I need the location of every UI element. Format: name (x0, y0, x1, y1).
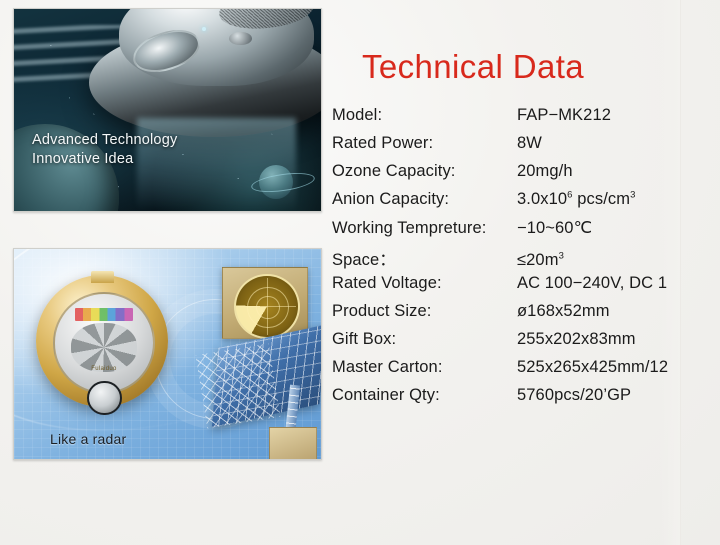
gold-air-purifier-illustration: Fulaiduo (36, 275, 168, 407)
spec-label: Model: (332, 106, 517, 125)
spec-value: −10~60℃ (517, 218, 592, 238)
spec-value: 255x202x83mm (517, 330, 636, 349)
spec-label: Rated Voltage: (332, 274, 517, 293)
spec-label: Product Size: (332, 302, 517, 321)
spec-value: ≤20m3 (517, 251, 564, 270)
bottom-photo-caption: Like a radar (50, 431, 126, 447)
spec-value: 5760pcs/20’GP (517, 386, 631, 405)
gold-device-radar-photo: Fulaiduo Like a radar (13, 248, 322, 460)
spec-value: 3.0x106 pcs/cm3 (517, 190, 635, 209)
spec-label: Rated Power: (332, 134, 517, 153)
gold-device-brand-label: Fulaiduo (55, 366, 153, 372)
media-column: Advanced Technology Innovative Idea Fula… (13, 8, 322, 460)
spec-label: Container Qty: (332, 386, 517, 405)
spec-value: ø168x52mm (517, 302, 610, 321)
spec-value-superscript-tail: 3 (630, 190, 635, 201)
spec-value: 20mg/h (517, 162, 573, 181)
spec-label: Ozone Capacity: (332, 162, 517, 181)
satellite-dish-illustration (199, 315, 322, 460)
spec-label: Master Carton: (332, 358, 517, 377)
gold-device-faceplate: Fulaiduo (53, 292, 155, 394)
space-saucer-purifier-photo: Advanced Technology Innovative Idea (13, 8, 322, 212)
gold-device-power-button (87, 381, 121, 415)
spec-value: AC 100−240V, DC 1 (517, 274, 667, 293)
spec-row: Space：≤20m3 (332, 246, 684, 274)
top-photo-caption: Advanced Technology Innovative Idea (32, 131, 177, 169)
top-photo-caption-line1: Advanced Technology (32, 131, 177, 150)
spec-row: Anion Capacity:3.0x106 pcs/cm3 (332, 190, 684, 218)
technical-data-panel: Technical Data Model:FAP−MK212Rated Powe… (332, 48, 684, 408)
spec-row: Model:FAP−MK212 (332, 106, 684, 134)
spec-row: Working Tempreture:−10~60℃ (332, 218, 684, 246)
spec-row: Product Size:ø168x52mm (332, 302, 684, 330)
spec-value-superscript: 6 (567, 190, 572, 201)
gold-device-vent (71, 323, 137, 372)
spec-row: Rated Voltage:AC 100−240V, DC 1 (332, 274, 684, 302)
spec-value: 525x265x425mm/12 (517, 358, 668, 377)
page-title: Technical Data (362, 48, 584, 86)
color-indicator-strip (75, 308, 134, 321)
gold-device-clip (91, 271, 113, 283)
spec-value: 8W (517, 134, 542, 153)
spec-label: Working Tempreture: (332, 219, 517, 238)
spec-row: Master Carton:525x265x425mm/12 (332, 358, 684, 386)
top-photo-caption-line2: Innovative Idea (32, 150, 177, 169)
spec-row: Gift Box:255x202x83mm (332, 330, 684, 358)
spec-value-superscript: 3 (559, 251, 564, 262)
slide-canvas: Advanced Technology Innovative Idea Fula… (0, 0, 720, 545)
satellite-dish-truss (196, 344, 281, 429)
spec-label: Space： (332, 246, 517, 270)
spec-label: Gift Box: (332, 330, 517, 349)
spec-row: Ozone Capacity:20mg/h (332, 162, 684, 190)
satellite-dish-base (269, 427, 317, 460)
spec-row: Rated Power:8W (332, 134, 684, 162)
spec-value: FAP−MK212 (517, 106, 611, 125)
spec-label: Anion Capacity: (332, 190, 517, 209)
saucer-led-indicator (202, 27, 206, 31)
specification-list: Model:FAP−MK212Rated Power:8WOzone Capac… (332, 106, 684, 408)
spec-row: Container Qty:5760pcs/20’GP (332, 386, 684, 408)
